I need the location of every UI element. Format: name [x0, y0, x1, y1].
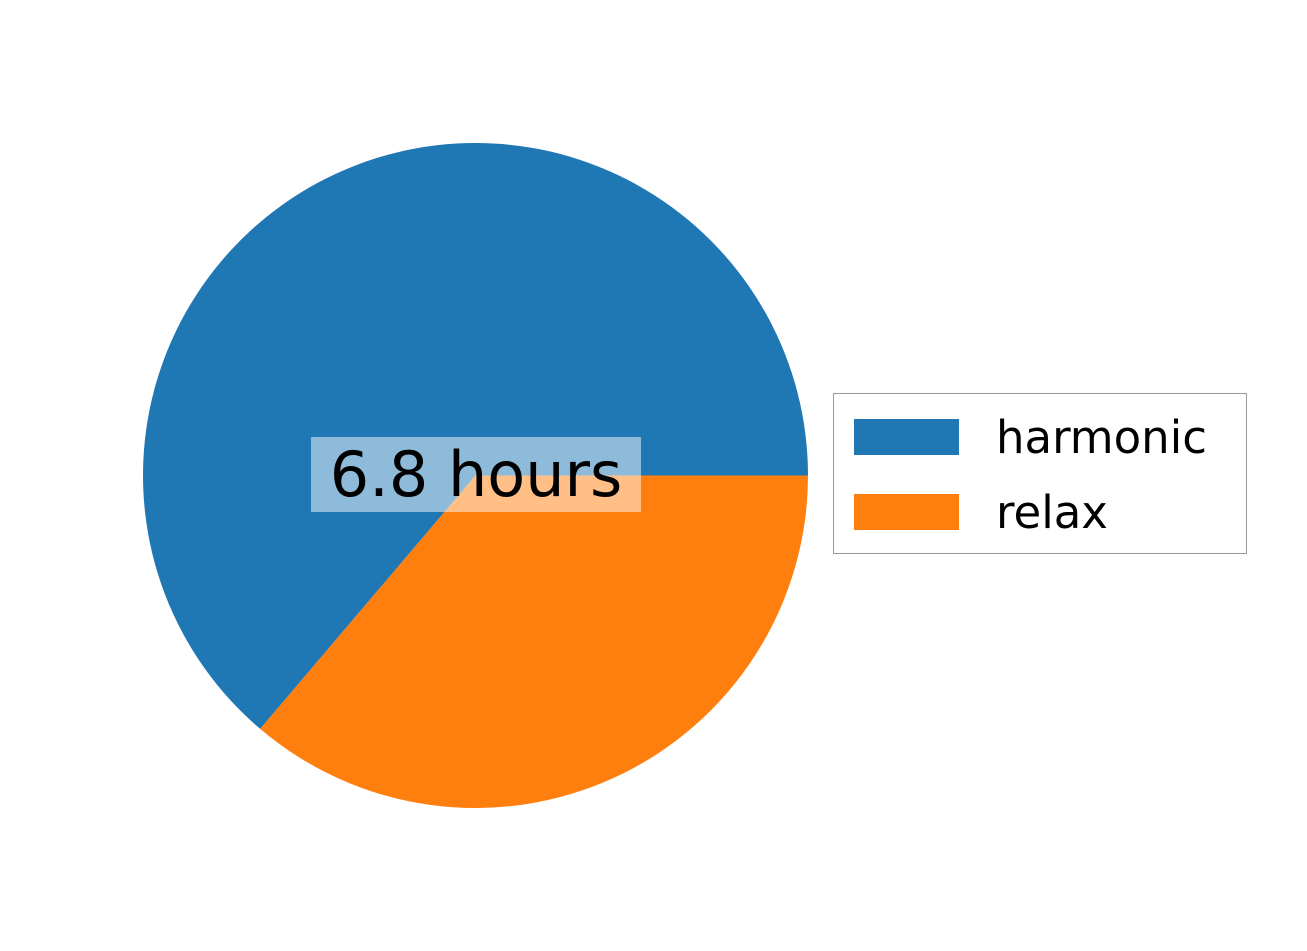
pie-chart-figure: 6.8 hours harmonic relax — [0, 0, 1307, 951]
legend-swatch-harmonic — [854, 419, 959, 455]
legend-label-relax: relax — [996, 490, 1108, 535]
chart-legend: harmonic relax — [833, 393, 1247, 554]
center-value-label: 6.8 hours — [311, 437, 641, 512]
legend-swatch-relax — [854, 494, 959, 530]
legend-item-relax[interactable]: relax — [854, 483, 1108, 541]
center-value-text: 6.8 hours — [330, 444, 623, 506]
legend-label-harmonic: harmonic — [996, 415, 1207, 460]
legend-item-harmonic[interactable]: harmonic — [854, 408, 1207, 466]
